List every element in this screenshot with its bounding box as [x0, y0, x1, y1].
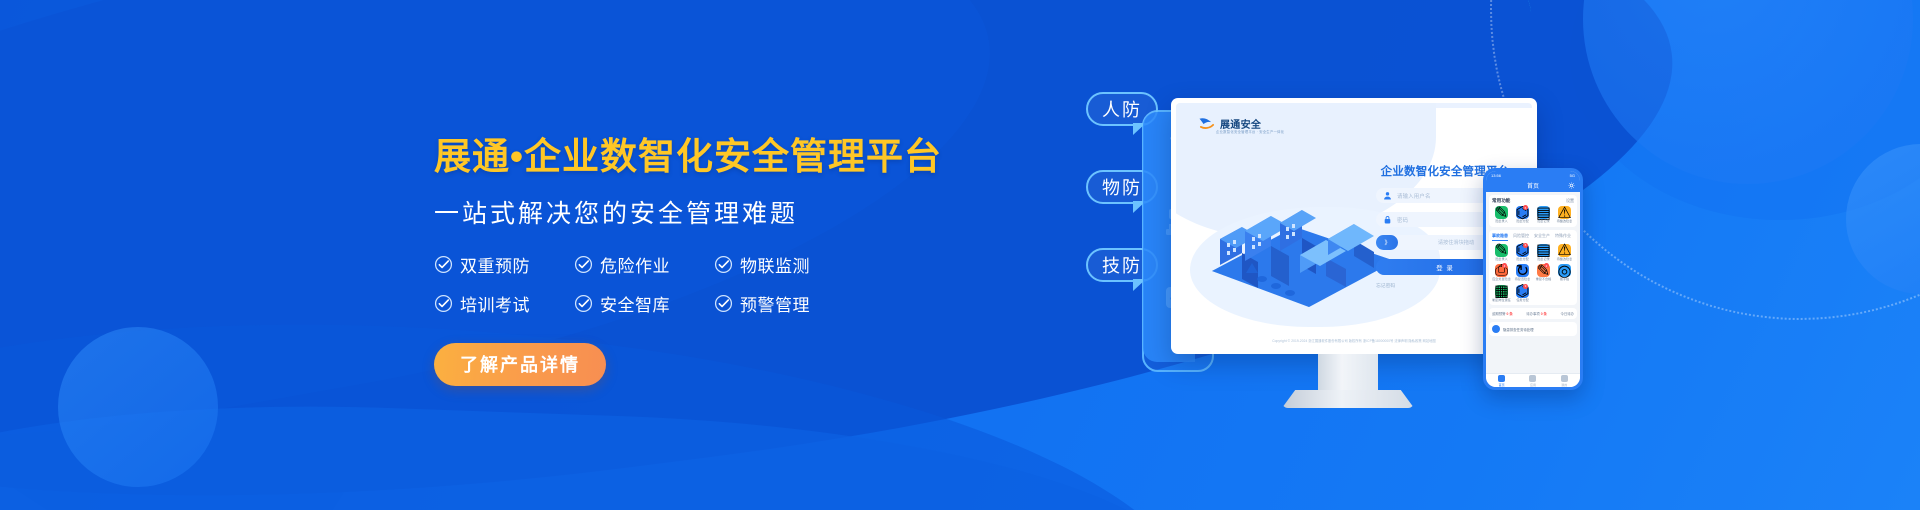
grid-icon — [1529, 375, 1536, 382]
feature-item: 培训考试 — [434, 291, 574, 316]
slider-knob[interactable]: 》 — [1376, 235, 1398, 250]
app-tile[interactable]: ✎ 隐患录入 — [1492, 206, 1511, 224]
feature-label: 双重预防 — [460, 252, 530, 277]
feature-label: 预警管理 — [740, 291, 810, 316]
tabbar-item-mine[interactable]: 我的 — [1561, 375, 1568, 387]
app-tile[interactable]: ▦ 制定岗位责任 — [1492, 285, 1511, 303]
app-tile[interactable]: 4 ⎙ 应急处置隐患 — [1492, 264, 1511, 282]
feature-item: 双重预防 — [434, 252, 574, 277]
badge-count: 3 — [1523, 284, 1528, 289]
monitor-foot — [1282, 390, 1414, 408]
check-circle-icon — [714, 255, 733, 274]
stat-todo: 待办事项 0 条 — [1526, 311, 1547, 316]
app-label: 隐患分配 — [1516, 220, 1528, 224]
person-icon — [1561, 375, 1568, 382]
tabbar-item-home[interactable]: 首页 — [1498, 375, 1505, 387]
app-tile[interactable]: ⚠ 待整改隐患 — [1555, 206, 1574, 224]
warning-icon: ⚠ — [1558, 206, 1571, 219]
check-circle-icon — [574, 255, 593, 274]
hero-banner: 展通•企业数智化安全管理平台 一站式解决您的安全管理难题 双重预防 危险作业 — [0, 0, 1920, 510]
feature-label: 危险作业 — [600, 252, 670, 277]
app-tile[interactable]: ✎ 隐患录入 — [1492, 244, 1511, 262]
monitor-neck — [1318, 354, 1378, 396]
edit-icon: ✎ — [1495, 244, 1508, 257]
user-icon — [1383, 191, 1392, 200]
phone-status-bar: 13:56 5G — [1486, 171, 1580, 179]
phone-list-item[interactable]: 隐患排查任务待处理 — [1489, 322, 1577, 336]
logo-mark-icon — [1198, 116, 1216, 131]
app-label: 隐患录入 — [1495, 258, 1507, 262]
phone-screen: 13:56 5G 首页 常用功能 设置 ✎ 隐患录入 — [1486, 171, 1580, 387]
duty-icon: ▦ — [1495, 285, 1508, 298]
warning-icon: ⚠ — [1558, 244, 1571, 257]
check-circle-icon — [434, 294, 453, 313]
stat-today: 今日待办 — [1560, 311, 1574, 316]
phone-stats-row: 逾期预警 0 条 待办事项 0 条 今日待办 — [1489, 308, 1577, 319]
copyright-text: Copyright © 2019-2024 浙江展通软件股份有限公司 版权所有 … — [1176, 338, 1532, 343]
status-time: 13:56 — [1491, 173, 1501, 178]
app-grid-common: ✎ 隐患录入 6 ⌬ 隐患分配 ▤ 隐患记录 ⚠ 待整改隐患 — [1492, 206, 1574, 224]
phone-card-common: 常用功能 设置 ✎ 隐患录入 6 ⌬ 隐患分配 ▤ 隐患记录 — [1489, 195, 1577, 227]
app-label: 隐患记录 — [1537, 220, 1549, 224]
check-circle-icon — [574, 294, 593, 313]
check-circle-icon — [434, 255, 453, 274]
hero-copy-block: 展通•企业数智化安全管理平台 一站式解决您的安全管理难题 双重预防 危险作业 — [434, 136, 994, 386]
stat-label: 待办事项 — [1526, 312, 1540, 316]
app-grid-hazard: ✎ 隐患录入 6 ⌬ 隐患分配 ▤ 隐患记录 ⚠ 待整改隐患 — [1492, 244, 1574, 303]
phone-tabbar: 首页 应用 我的 — [1486, 373, 1580, 387]
feature-item: 预警管理 — [714, 291, 854, 316]
learn-more-button[interactable]: 了解产品详情 — [434, 343, 606, 386]
stat-overdue: 逾期预警 0 条 — [1492, 311, 1513, 316]
badge-count: 6 — [1523, 243, 1528, 248]
feature-list: 双重预防 危险作业 物联监测 — [434, 252, 994, 316]
monitor-screen: 展通安全 企业数智化安全管理平台 · 安全生产一体化 — [1176, 103, 1532, 349]
app-tile[interactable]: 3 ⌬ 任务分配 — [1513, 285, 1532, 303]
app-tile[interactable]: 6 ⌬ 隐患分配 — [1513, 244, 1532, 262]
page-title: 展通•企业数智化安全管理平台 — [434, 136, 994, 179]
phone-nav-bar: 首页 — [1486, 179, 1580, 192]
app-label: 任务分配 — [1516, 299, 1528, 303]
app-tile[interactable]: ◎ 随手拍 — [1555, 264, 1574, 282]
feature-item: 安全智库 — [574, 291, 714, 316]
badge-count: 6 — [1523, 205, 1528, 210]
lock-icon — [1383, 215, 1392, 224]
tabbar-label: 应用 — [1530, 383, 1536, 387]
feature-label: 物联监测 — [740, 252, 810, 277]
app-tile[interactable]: ⚠ 待整改隐患 — [1555, 244, 1574, 262]
tabbar-label: 首页 — [1499, 383, 1505, 387]
password-placeholder: 密码 — [1397, 216, 1408, 224]
feature-label: 培训考试 — [460, 291, 530, 316]
app-tile[interactable]: 2 ✎ 重复不合格 — [1534, 264, 1553, 282]
stat-value: 0 条 — [1541, 312, 1547, 316]
app-label: 重复不合格 — [1536, 278, 1551, 282]
mobile-phone-mockup: 13:56 5G 首页 常用功能 设置 ✎ 隐患录入 — [1483, 168, 1583, 390]
stat-value: 0 条 — [1507, 312, 1513, 316]
phone-nav-title: 首页 — [1527, 181, 1539, 190]
list-item-text: 隐患排查任务待处理 — [1503, 327, 1534, 332]
gear-icon[interactable] — [1568, 182, 1575, 189]
page-subtitle: 一站式解决您的安全管理难题 — [434, 194, 994, 230]
app-tile[interactable]: ▤ 隐患记录 — [1534, 206, 1553, 224]
feature-label: 安全智库 — [600, 291, 670, 316]
check-circle-icon — [714, 294, 733, 313]
tabbar-item-apps[interactable]: 应用 — [1529, 375, 1536, 387]
record-icon: ▤ — [1537, 206, 1550, 219]
feature-item: 危险作业 — [574, 252, 714, 277]
bg-circle-bottom-left — [58, 327, 218, 487]
app-label: 待整改隐患 — [1557, 220, 1572, 224]
feature-item: 物联监测 — [714, 252, 854, 277]
forgot-password-link[interactable]: 忘记密码 — [1376, 282, 1395, 289]
app-label: 随手拍 — [1560, 278, 1569, 282]
record-icon: ▤ — [1537, 244, 1550, 257]
app-tile[interactable]: ↻ 待复查隐患 — [1513, 264, 1532, 282]
stat-label: 逾期预警 — [1492, 312, 1506, 316]
logo-subtitle: 企业数智化安全管理平台 · 安全生产一体化 — [1216, 129, 1284, 134]
phone-card-hazard: 事故隐患 风险管控 安全生产 特殊作业 ✎ 隐患录入 6 ⌬ 隐患分配 — [1489, 230, 1577, 306]
home-icon — [1498, 375, 1505, 382]
app-tile[interactable]: ▤ 隐患记录 — [1534, 244, 1553, 262]
status-signal: 5G — [1570, 173, 1575, 178]
avatar — [1492, 325, 1500, 333]
tabbar-label: 我的 — [1561, 383, 1567, 387]
app-label: 隐患录入 — [1495, 220, 1507, 224]
app-label: 制定岗位责任 — [1492, 299, 1511, 303]
edit-icon: ✎ — [1495, 206, 1508, 219]
recheck-icon: ↻ — [1516, 264, 1529, 277]
username-placeholder: 请输入用户名 — [1397, 192, 1431, 200]
camera-icon: ◎ — [1558, 264, 1571, 277]
app-tile[interactable]: 6 ⌬ 隐患分配 — [1513, 206, 1532, 224]
